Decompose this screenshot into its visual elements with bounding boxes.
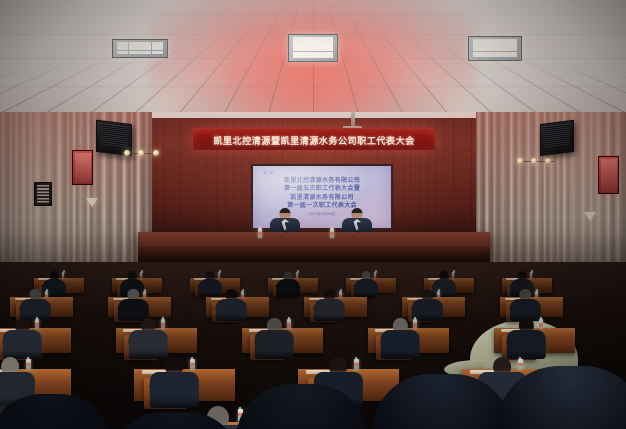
framed-art-right [598,156,619,194]
microphone-left [286,224,287,233]
wall-speaker-right [540,120,574,156]
head-table-bottle-right [330,228,334,238]
audience-member [497,318,555,362]
grid-light-right [468,36,522,61]
audience-torso [314,299,344,321]
audience-member [348,271,384,298]
microphone-right [358,224,359,233]
audience-member [245,318,303,362]
event-banner: 凯里北控清源暨凯里清源水务公司职工代表大会 [193,128,435,150]
ceiling-panel-seam [0,58,107,118]
audience-member [138,357,211,412]
foreground-attendee-silhouette [0,394,110,429]
audience-member [119,318,177,362]
event-banner-text: 凯里北控清源暨凯里清源水务公司职工代表大会 [213,133,414,147]
ceiling-tile-line [0,14,626,15]
grid-light-left [112,39,168,58]
head-table [138,232,490,262]
wall-sconce-left [86,198,98,207]
ceiling-tile-line [0,86,626,87]
audience-torso [507,330,546,359]
wall-notice-board [34,182,52,206]
track-lights-left [122,150,162,157]
audience-member [371,318,429,362]
conference-hall-photograph: 凯里北控清源暨凯里清源水务公司职工代表大会 第二项 凯里北控清源水务有限公司 第… [0,0,626,429]
slide-top-note: 第二项 [263,170,273,175]
head-table-bottle-left [258,228,262,238]
track-lights-right [516,158,554,165]
audience-member [0,318,51,362]
audience-floor [0,262,626,429]
slide-line-2: 第一届五次职工代表大会暨 [284,185,360,192]
wall-sconce-right [584,212,596,221]
slide-date: 2021年4月28日 [309,212,336,217]
audience-torso [276,279,300,297]
framed-art-left [72,150,93,185]
audience-torso [216,299,246,321]
audience-torso [381,330,420,359]
audience-torso [3,330,42,359]
audience-member [307,289,353,323]
audience-torso [255,330,294,359]
slide-line-1: 凯里北控清源水务有限公司 [284,177,360,184]
ceiling [0,0,626,118]
room-interior: 凯里北控清源暨凯里清源水务公司职工代表大会 第二项 凯里北控清源水务有限公司 第… [0,112,626,429]
audience-member [270,271,306,298]
audience-torso [129,330,168,359]
audience-torso [354,279,378,297]
slide-line-3: 凯里清源水务有限公司 [290,194,353,201]
audience-torso [150,372,198,408]
grid-light-center [288,34,338,62]
